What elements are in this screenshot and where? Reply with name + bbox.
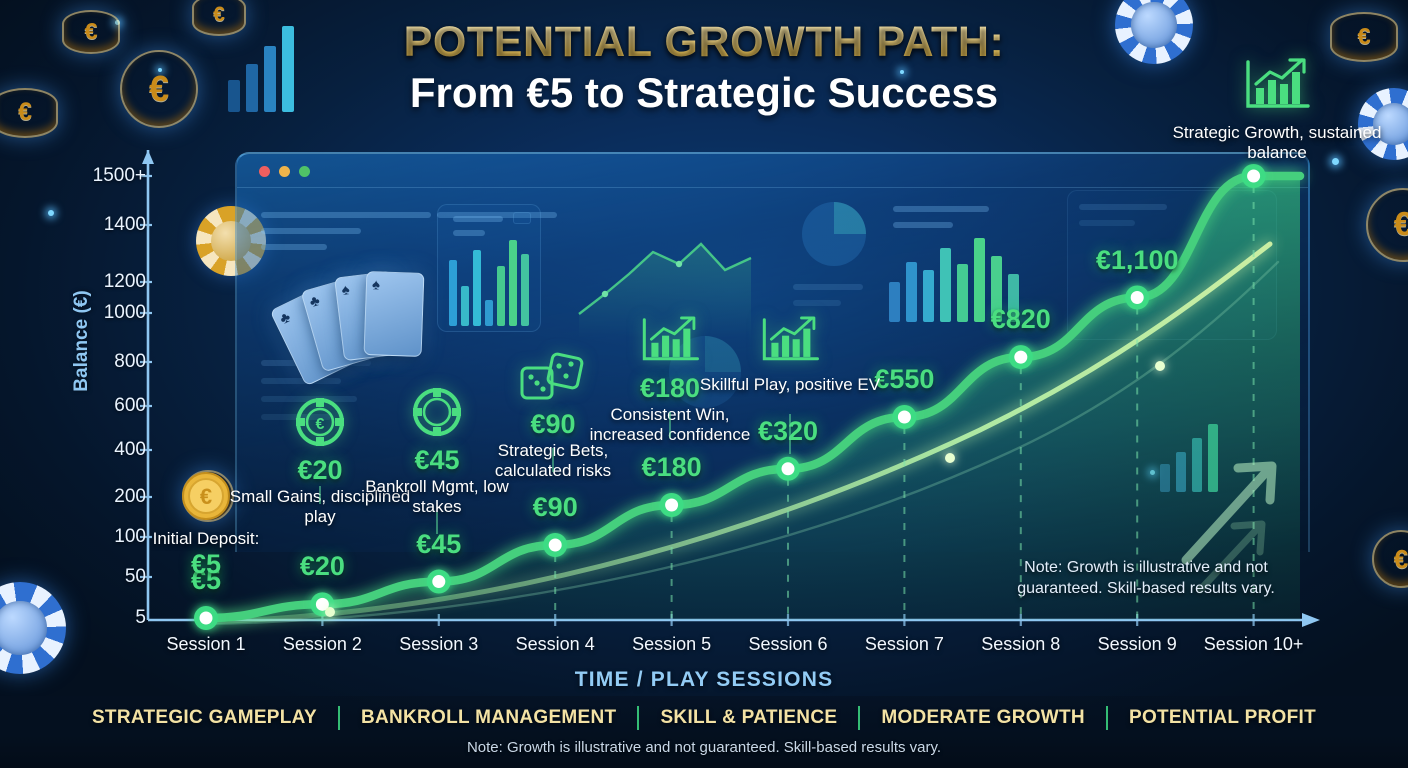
sparkle-dot [1155,361,1165,371]
data-point-marker-core [1014,351,1027,364]
data-point-value-label: €45 [416,529,461,560]
x-axis-tick-label: Session 7 [865,634,944,655]
growth-chart-icon [639,316,701,366]
footer-tag: SKILL & PATIENCE [639,707,858,729]
data-point-marker-core [898,411,911,424]
sparkle-dot [325,607,335,617]
annotation-tether [436,512,438,534]
x-axis-tick-label: Session 6 [748,634,827,655]
data-point-marker-core [200,612,213,625]
data-point-value-label: €180 [642,452,702,483]
y-axis-title: Balance (€) [71,251,93,431]
y-axis-tick-label: 1000 [104,302,146,324]
x-axis-title: TIME / PLAY SESSIONS [0,668,1408,692]
annotation-icon [695,316,885,371]
sparkle-dot [945,453,955,463]
x-axis-tick-label: Session 4 [516,634,595,655]
infographic-canvas: € € € € € € € € [0,0,1408,768]
footer-tag: BANKROLL MANAGEMENT [340,707,638,729]
data-point-value-label: €20 [300,551,345,582]
annotation-label: Initial Deposit: [111,529,301,549]
y-axis-tick-label: 5 [135,607,146,629]
annotation-label: Skillful Play, positive EV [695,375,885,395]
footer-tag-separator [1106,706,1108,730]
annotation-tether [552,448,554,472]
data-point-marker-core [549,539,562,552]
footer-tag-separator [858,706,860,730]
footer-tag-separator [637,706,639,730]
footer-note: Note: Growth is illustrative and not gua… [0,739,1408,756]
footer-tag: POTENTIAL PROFIT [1108,707,1337,729]
chart-disclaimer-note: Note: Growth is illustrative and not gua… [998,558,1294,600]
y-axis-tick-label: 600 [114,395,146,417]
x-axis-tick-label: Session 2 [283,634,362,655]
strategic-growth-callout: Strategic Growth, sustained balance [1162,58,1392,164]
x-axis-tick-label: Session 10+ [1204,634,1304,655]
y-axis-tick-label: 1500+ [93,165,146,187]
poker-chip-euro-icon: € [294,396,346,448]
data-point-marker-core [665,499,678,512]
annotation-label: Bankroll Mgmt, low stakes [342,477,532,517]
data-point-value-label: €320 [758,416,818,447]
annotation-callout: Skillful Play, positive EV [695,316,885,395]
x-axis-tick-label: Session 3 [399,634,478,655]
annotation-amount: €5 [111,549,301,580]
growth-chart-icon [759,316,821,366]
footer-tags: STRATEGIC GAMEPLAYBANKROLL MANAGEMENTSKI… [0,696,1408,730]
footer-tag: STRATEGIC GAMEPLAY [71,707,338,729]
data-point-marker-core [1131,291,1144,304]
x-axis-tick-label: Session 1 [166,634,245,655]
data-point-value-label: €820 [991,304,1051,335]
x-axis-tick-label: Session 8 [981,634,1060,655]
annotation-tether [789,414,791,454]
footer-tag: MODERATE GROWTH [860,707,1106,729]
y-axis-tick-label: 1400 [104,214,146,236]
svg-text:€: € [316,416,325,433]
data-point-marker-core [782,462,795,475]
annotation-tether [319,486,321,504]
svg-text:€: € [200,484,212,509]
data-point-marker-core [432,575,445,588]
y-axis-tick-label: 400 [114,439,146,461]
x-axis-tick-label: Session 9 [1098,634,1177,655]
strategic-growth-text: Strategic Growth, sustained balance [1162,123,1392,164]
y-axis-tick-label: 1200 [104,271,146,293]
poker-chip-icon [411,386,463,438]
annotation-tether [669,412,671,438]
footer: STRATEGIC GAMEPLAYBANKROLL MANAGEMENTSKI… [0,696,1408,768]
x-axis-tick-label: Session 5 [632,634,711,655]
y-axis-tick-label: 800 [114,351,146,373]
footer-tag-separator [338,706,340,730]
growth-chart-icon [1242,58,1312,114]
data-point-value-label: €1,100 [1096,245,1179,276]
data-point-value-label: €90 [533,492,578,523]
data-point-marker-core [1247,170,1260,183]
